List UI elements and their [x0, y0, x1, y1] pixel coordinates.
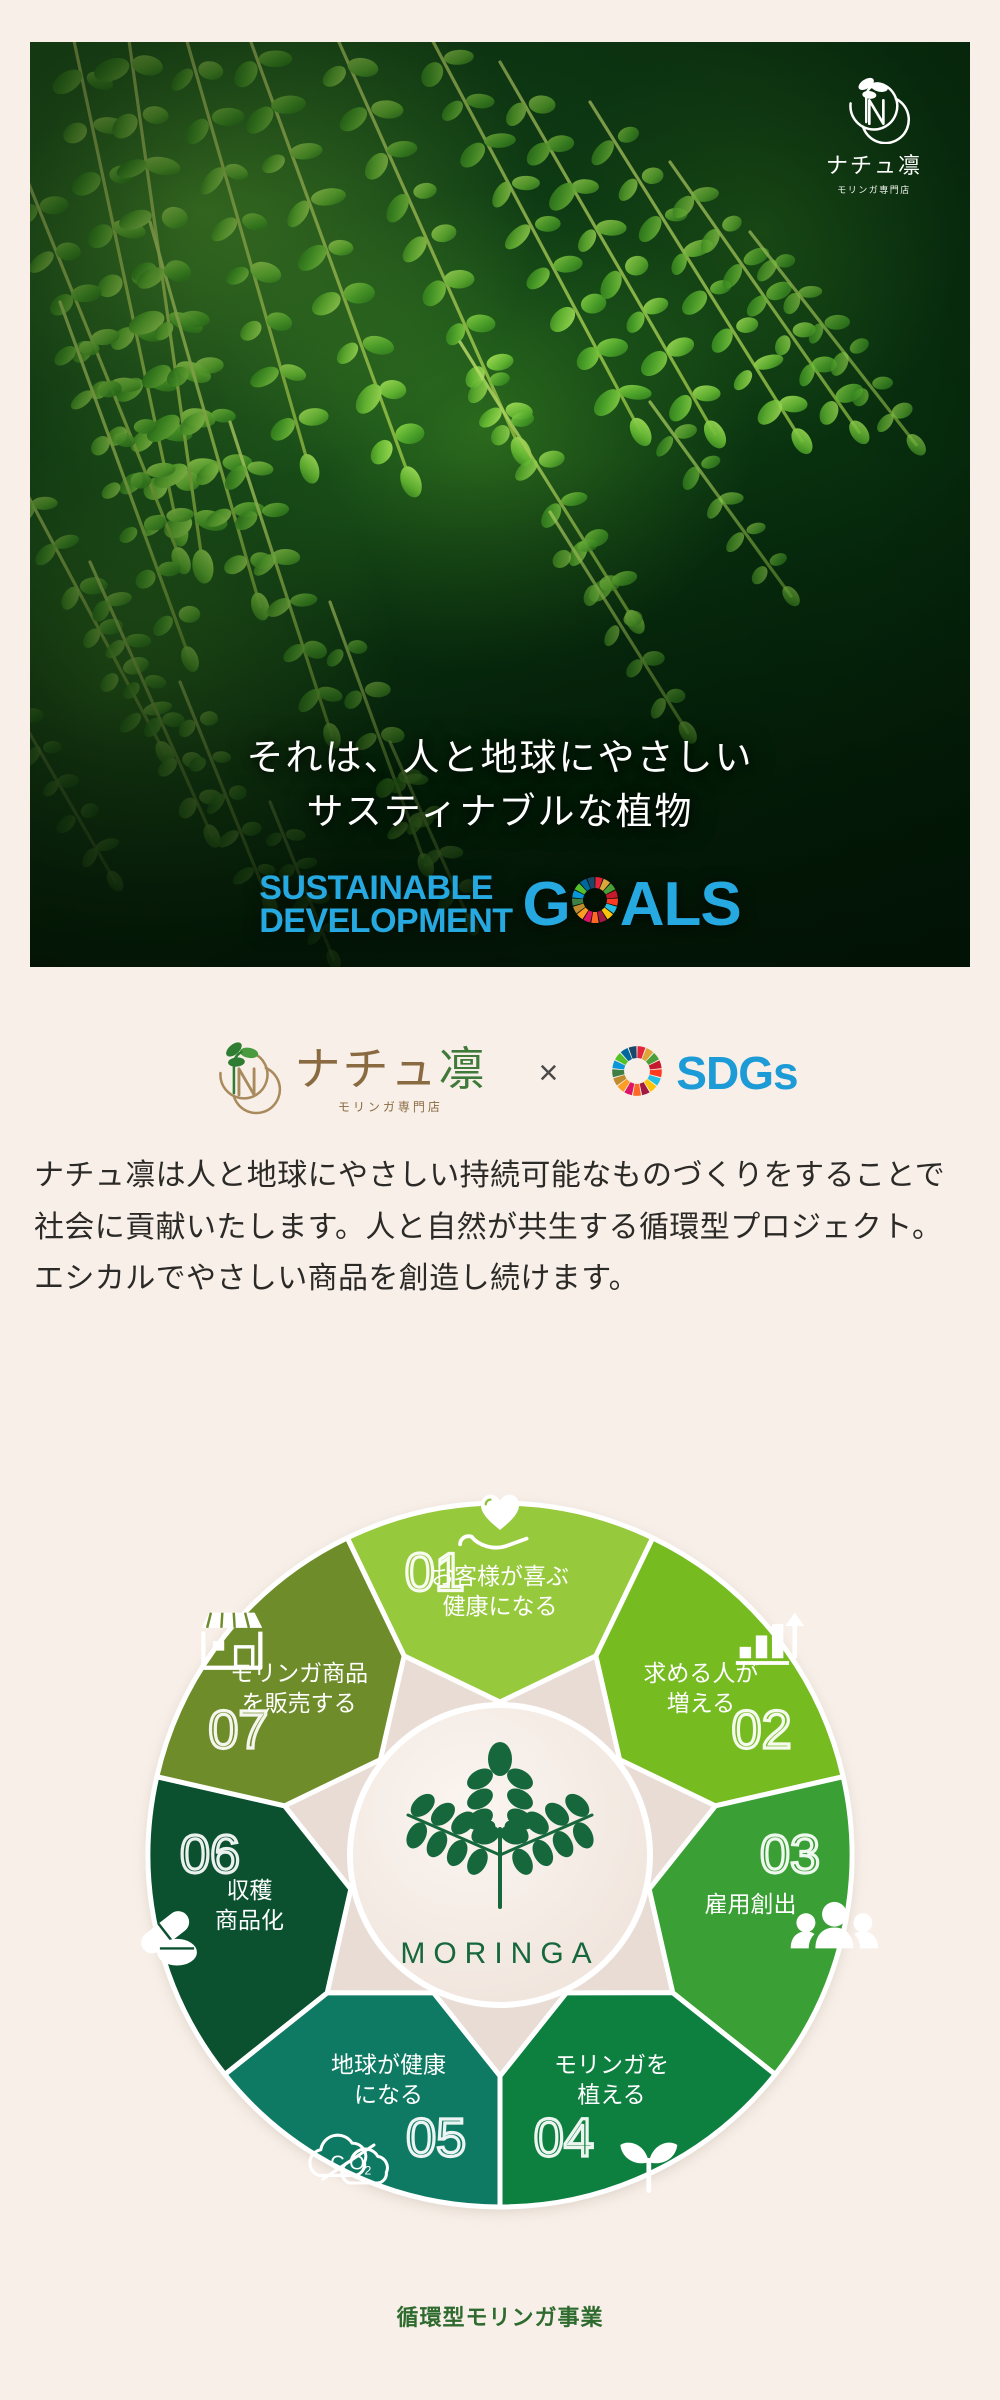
segment-number-04: 04: [534, 2108, 594, 2168]
hero-tagline-line-1: それは、人と地球にやさしい: [30, 732, 970, 786]
segment-label-07: を販売する: [242, 1690, 357, 1716]
segment-label-01: お客様が喜ぶ: [431, 1563, 569, 1589]
moringa-leaf-monogram-icon: [835, 66, 913, 144]
brand-logo: ナチュ凛 モリンガ専門店: [202, 1031, 486, 1115]
intro-paragraph: ナチュ凛は人と地球にやさしい持続可能なものづくりをすることで社会に貢献いたします…: [34, 1150, 966, 1305]
sdgs-logo: SDGs: [610, 1044, 797, 1103]
segment-label-05: 地球が健康: [331, 2052, 446, 2078]
brand-name: ナチュ凛: [294, 1046, 486, 1094]
hero-banner: ナチュ凛 モリンガ専門店 それは、人と地球にやさしい サスティナブルな植物 SU…: [30, 42, 970, 967]
sdg-goals-word: G ALS: [523, 874, 741, 936]
segment-number-06: 06: [180, 1824, 240, 1884]
segment-label-01: 健康になる: [443, 1593, 558, 1619]
sdg-color-wheel-icon: [570, 874, 620, 936]
wheel-center-label: MORINGA: [400, 1937, 599, 1970]
segment-label-02: 増える: [667, 1690, 735, 1716]
sdg-goals-suffix: ALS: [620, 874, 741, 936]
sdg-words: SUSTAINABLE DEVELOPMENT: [259, 872, 512, 939]
brand-sdgs-lockup: ナチュ凛 モリンガ専門店 × SDGs: [0, 1018, 1000, 1128]
moringa-leaf-monogram-icon: [202, 1031, 286, 1115]
hero-brand-logo: ナチュ凛 モリンガ専門店: [814, 66, 934, 196]
segment-number-03: 03: [760, 1824, 820, 1884]
segment-label-06: 収穫: [226, 1877, 272, 1903]
sdg-line-2: DEVELOPMENT: [259, 905, 512, 938]
brand-text-column: ナチュ凛 モリンガ専門店: [294, 1046, 486, 1115]
brand-subtitle: モリンガ専門店: [338, 1098, 443, 1115]
sdgs-label: SDGs: [676, 1046, 797, 1100]
hero-brand-name: ナチュ凛: [814, 148, 934, 180]
sdg-color-wheel-icon: [610, 1044, 664, 1103]
sdg-goals-prefix: G: [523, 874, 570, 936]
sdg-line-1: SUSTAINABLE: [259, 872, 512, 905]
segment-label-04: モリンガを: [554, 2052, 669, 2078]
segment-number-05: 05: [406, 2108, 466, 2168]
page-root: ナチュ凛 モリンガ専門店 それは、人と地球にやさしい サスティナブルな植物 SU…: [0, 0, 1000, 2400]
hero-tagline: それは、人と地球にやさしい サスティナブルな植物: [30, 732, 970, 839]
segment-label-03: 雇用創出: [705, 1891, 797, 1917]
brand-name-part-b: 凛: [438, 1044, 486, 1095]
segment-label-06: 商品化: [215, 1907, 284, 1933]
segment-number-02: 02: [732, 1700, 792, 1760]
multiply-symbol: ×: [538, 1056, 558, 1090]
diagram-caption: 循環型モリンガ事業: [0, 2300, 1000, 2332]
circular-business-diagram: MORINGA01お客様が喜ぶ健康になる 02求める人が増える 03雇用創出 0…: [70, 1425, 930, 2285]
svg-text:2: 2: [364, 2163, 371, 2177]
hero-tagline-line-2: サスティナブルな植物: [30, 786, 970, 840]
segment-label-04: 植える: [577, 2082, 645, 2108]
segment-label-07: モリンガ商品: [230, 1660, 368, 1686]
hero-sdg-lockup: SUSTAINABLE DEVELOPMENT G ALS: [30, 872, 970, 939]
hero-brand-subtitle: モリンガ専門店: [814, 183, 934, 196]
segment-label-05: になる: [354, 2082, 423, 2108]
brand-name-part-a: ナチュ: [294, 1044, 438, 1095]
